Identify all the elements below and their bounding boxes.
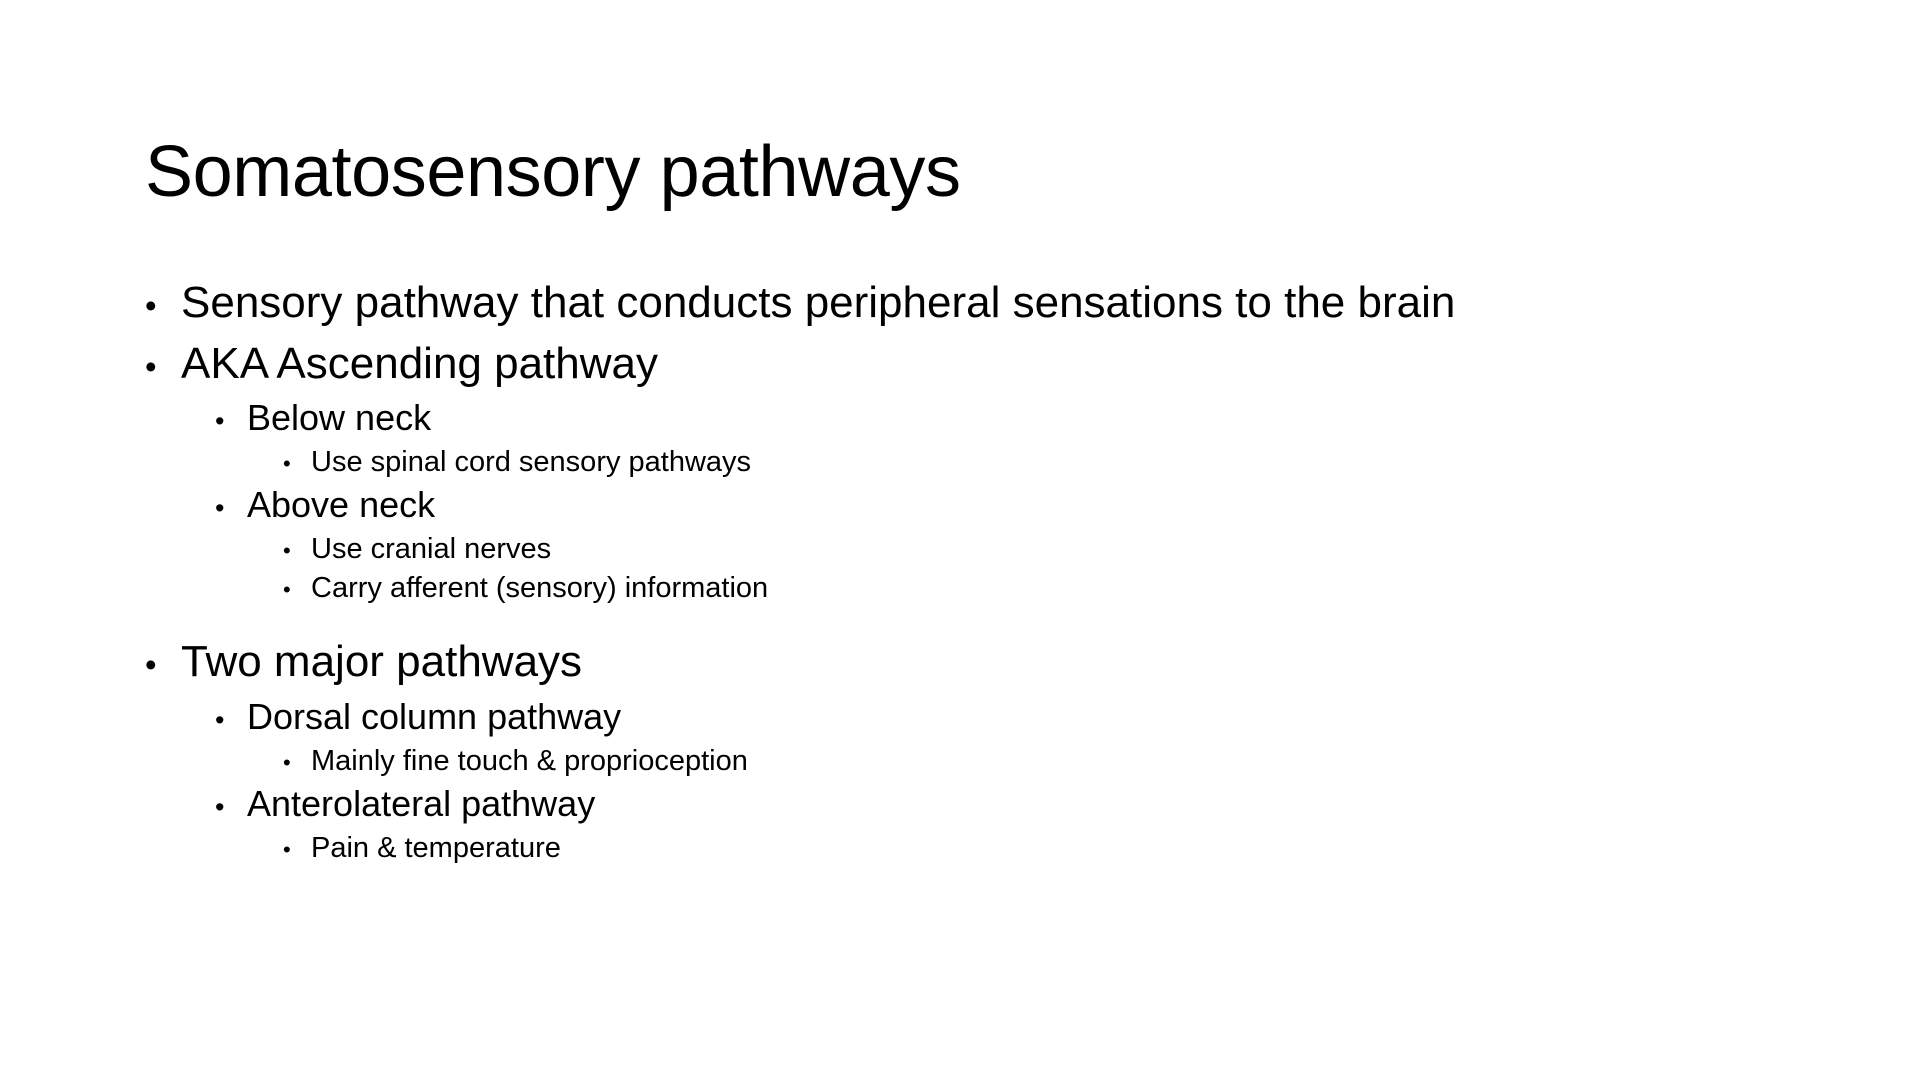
bullet-point-icon: • [215,491,247,526]
bullet-item-text: Two major pathways [181,633,582,692]
bullet-point-icon: • [145,643,181,687]
bullet-point-icon: • [215,790,247,825]
bullet-item-level-2: •Dorsal column pathway [215,694,1845,741]
bullet-item-text: Use cranial nerves [311,530,551,568]
bullet-item-text: Pain & temperature [311,829,561,867]
slide-body-content: •Sensory pathway that conducts periphera… [145,272,1845,868]
bullet-item-level-3: •Use cranial nerves [283,530,1845,568]
bullet-item-level-3: •Pain & temperature [283,829,1845,867]
slide-title: Somatosensory pathways [145,134,1785,212]
bullet-point-icon: • [283,575,311,604]
bullet-item-text: Above neck [247,482,435,529]
bullet-item-text: Sensory pathway that conducts peripheral… [181,274,1455,333]
bullet-point-icon: • [145,345,181,389]
bullet-point-icon: • [215,703,247,738]
bullet-point-icon: • [283,748,311,777]
presentation-slide: Somatosensory pathways •Sensory pathway … [0,0,1920,1080]
bullet-item-text: AKA Ascending pathway [181,335,658,394]
bullet-item-text: Dorsal column pathway [247,694,621,741]
bullet-item-text: Use spinal cord sensory pathways [311,443,751,481]
bullet-item-level-1: •AKA Ascending pathway [145,335,1845,394]
bullet-item-text: Below neck [247,395,431,442]
bullet-item-level-3: •Mainly fine touch & proprioception [283,742,1845,780]
bullet-item-text: Anterolateral pathway [247,781,595,828]
bullet-item-level-1: •Two major pathways [145,633,1845,692]
bullet-item-level-3: •Carry afferent (sensory) information [283,569,1845,607]
bullet-point-icon: • [215,404,247,439]
bullet-item-level-2: •Anterolateral pathway [215,781,1845,828]
bullet-point-icon: • [145,284,181,328]
bullet-item-level-1: •Sensory pathway that conducts periphera… [145,274,1845,333]
bullet-point-icon: • [283,536,311,565]
bullet-item-text: Carry afferent (sensory) information [311,569,768,607]
bullet-item-level-2: •Below neck [215,395,1845,442]
bullet-point-icon: • [283,449,311,478]
bullet-item-text: Mainly fine touch & proprioception [311,742,748,780]
bullet-point-icon: • [283,835,311,864]
bullet-item-level-2: •Above neck [215,482,1845,529]
bullet-item-level-3: •Use spinal cord sensory pathways [283,443,1845,481]
